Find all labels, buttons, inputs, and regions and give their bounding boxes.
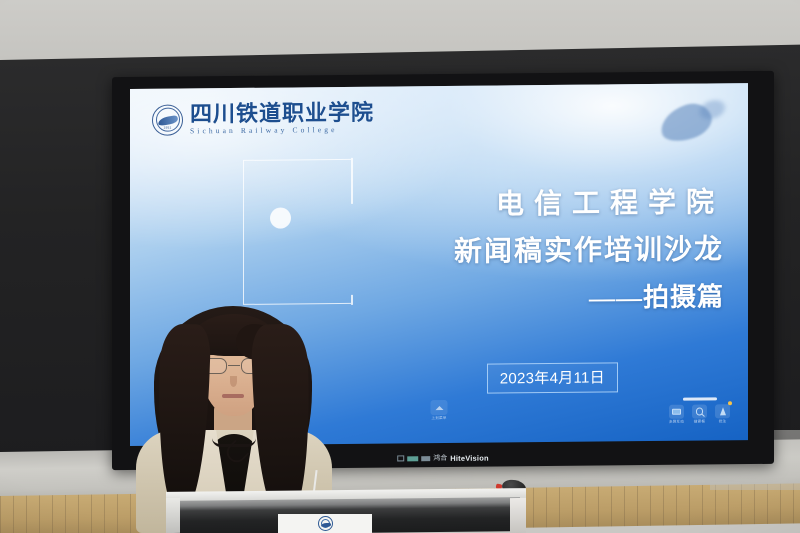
college-seal-icon: 1951 xyxy=(152,104,183,135)
toolbar-label-screen-share: 多屏互动 xyxy=(669,420,684,425)
brand-mark-bar-icon xyxy=(407,456,418,461)
toolbar-center-button[interactable]: 上划菜单 xyxy=(431,400,448,421)
chevron-up-icon[interactable] xyxy=(431,400,448,415)
home-indicator-bar[interactable] xyxy=(683,397,717,400)
college-name-block: 四川铁道职业学院 Sichuan Railway College xyxy=(190,101,374,137)
toolbar-label-annotate: 批注 xyxy=(719,419,727,424)
slide-title-line-1: 电信工程学院 xyxy=(378,181,724,228)
slide-title-line-3: ——拍摄篇 xyxy=(378,275,724,322)
display-brand-badge: 鸿合 HiteVision xyxy=(397,453,489,464)
toolbar-label-search: 搜索框 xyxy=(694,419,705,424)
brand-mark-square-icon xyxy=(397,455,404,461)
toolbar-button-annotate[interactable]: 批注 xyxy=(715,404,730,424)
screen-share-icon[interactable] xyxy=(669,405,684,419)
circle-moon-decor xyxy=(270,207,291,228)
toolbar-center-label: 上划菜单 xyxy=(431,416,446,421)
notification-badge-dot xyxy=(728,401,732,405)
classroom-scene: 1951 四川铁道职业学院 Sichuan Railway College 电信… xyxy=(0,0,800,533)
slide-title-block: 电信工程学院 新闻稿实作培训沙龙 ——拍摄篇 xyxy=(378,181,724,322)
search-icon[interactable] xyxy=(692,404,707,418)
lectern-podium xyxy=(166,490,526,533)
podium-side-left xyxy=(166,498,180,533)
nose xyxy=(230,376,237,387)
annotate-pen-icon[interactable] xyxy=(715,404,730,418)
display-brand-en: HiteVision xyxy=(450,453,489,462)
podium-emblem-plate xyxy=(278,514,372,533)
slide-date-badge: 2023年4月11日 xyxy=(487,362,618,393)
college-name-cn: 四川铁道职业学院 xyxy=(190,101,374,126)
podium-seal-icon xyxy=(318,516,333,531)
college-logo: 1951 四川铁道职业学院 Sichuan Railway College xyxy=(152,101,374,137)
choker-necklace xyxy=(212,438,256,447)
podium-side-right xyxy=(510,498,526,533)
slide-title-line-2: 新闻稿实作培训沙龙 xyxy=(378,225,724,278)
seal-year: 1951 xyxy=(153,125,182,129)
college-name-en: Sichuan Railway College xyxy=(190,124,374,137)
bracket-frame-decor xyxy=(243,159,351,305)
brand-mark-bar2-icon xyxy=(421,456,430,461)
toolbar-button-screen-share[interactable]: 多屏互动 xyxy=(669,405,684,425)
toolbar-right-group[interactable]: 多屏互动 搜索框 批注 xyxy=(669,397,730,425)
display-brand-cn: 鸿合 xyxy=(433,453,447,463)
toolbar-button-search[interactable]: 搜索框 xyxy=(692,404,707,424)
glasses-bridge xyxy=(228,365,240,366)
mouth xyxy=(222,394,244,398)
